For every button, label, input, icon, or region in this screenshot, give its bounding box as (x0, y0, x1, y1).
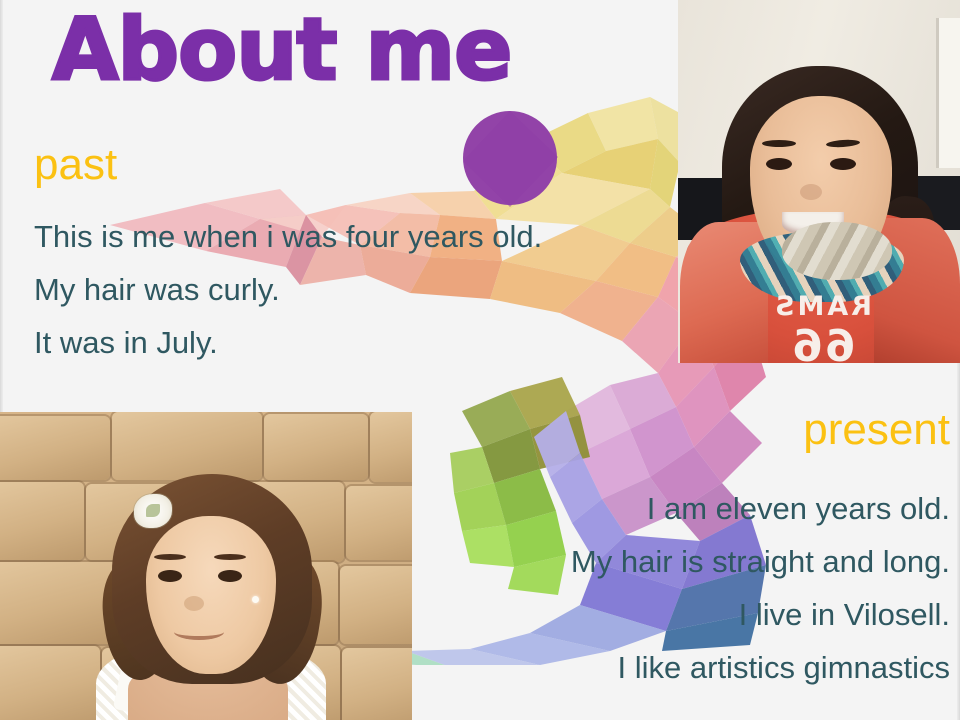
photo-past-nose (184, 596, 204, 611)
photo-past-stone (346, 486, 412, 560)
photo-past-stone (370, 412, 412, 482)
present-line-4: I like artistics gimnastics (571, 641, 950, 694)
photo-past-eye-right (218, 570, 242, 582)
photo-present-sweatshirt-text: RAMS (738, 290, 906, 324)
photo-past-stone (340, 566, 412, 644)
present-line-2: My hair is straight and long. (571, 535, 950, 588)
photo-past-content (0, 412, 412, 720)
page-title: About me (52, 4, 511, 96)
past-text-block: This is me when i was four years old. My… (34, 210, 542, 369)
past-line-3: It was in July. (34, 316, 542, 369)
section-heading-past: past (34, 140, 117, 190)
section-heading-present: present (803, 405, 950, 455)
photo-past-mouth (174, 624, 224, 640)
past-line-1: This is me when i was four years old. (34, 210, 542, 263)
photo-past-eyebrow-right (214, 554, 246, 560)
photo-present-eye-right (830, 158, 856, 170)
present-line-1: I am eleven years old. (571, 482, 950, 535)
photo-past-eyebrow-left (154, 554, 186, 560)
photo-present-girl: RAMS 66 (678, 0, 960, 363)
photo-past-stone (342, 648, 412, 720)
slide-about-me: About me past This is me when i was four… (0, 0, 960, 720)
photo-past-stone (0, 482, 84, 560)
photo-past-hair-clip (134, 494, 172, 528)
photo-past-stone (112, 412, 262, 480)
photo-present-eyebrow-left (762, 140, 796, 147)
photo-past-eye-left (158, 570, 182, 582)
photo-present-sweatshirt-number: 66 (748, 326, 898, 363)
present-line-3: I live in Vilosell. (571, 588, 950, 641)
photo-present-nose (800, 184, 822, 200)
photo-present-eye-left (766, 158, 792, 170)
past-line-2: My hair was curly. (34, 263, 542, 316)
photo-present-content: RAMS 66 (678, 0, 960, 363)
photo-past-girl (0, 412, 412, 720)
photo-past-stone (0, 562, 118, 644)
photo-present-wall-frame (936, 18, 960, 168)
photo-past-stone (264, 414, 368, 480)
photo-past-stone (0, 416, 110, 480)
photo-past-earring (252, 596, 259, 603)
present-text-block: I am eleven years old. My hair is straig… (571, 482, 950, 694)
photo-present-scarf-knit (782, 222, 892, 280)
photo-past-stone (0, 646, 100, 720)
